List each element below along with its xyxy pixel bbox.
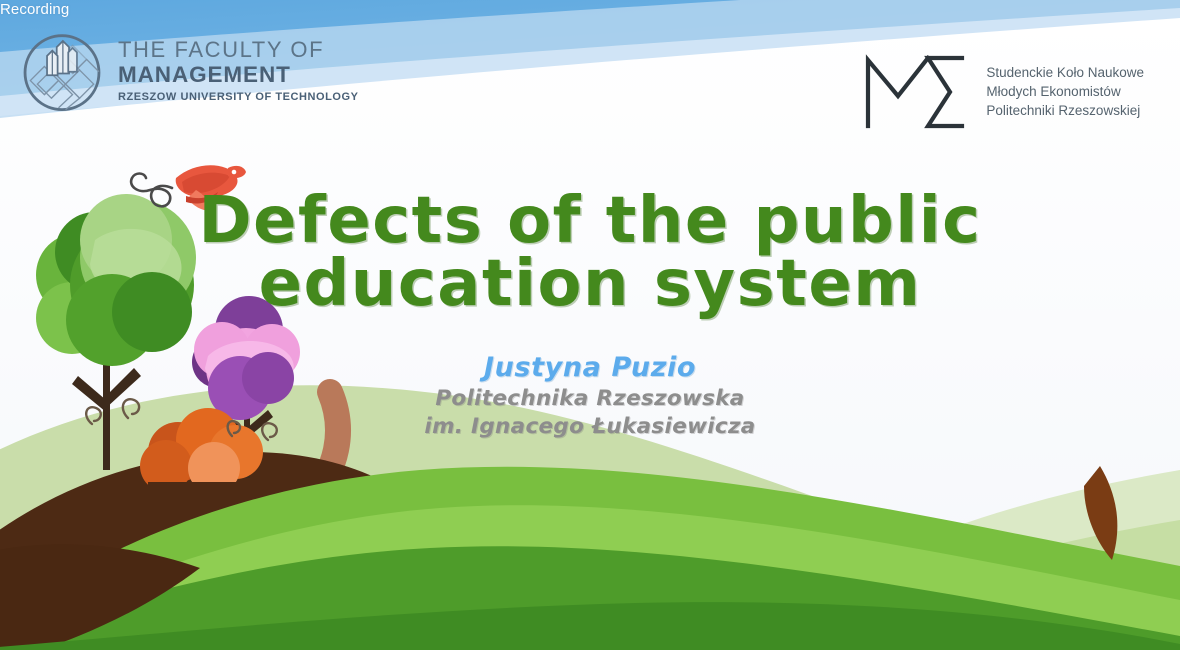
- faculty-logo: THE FACULTY OF MANAGEMENT RZESZOW UNIVER…: [18, 26, 358, 114]
- faculty-line-1: THE FACULTY OF: [118, 37, 358, 63]
- me-monogram-icon: [862, 52, 970, 130]
- faculty-line-3: RZESZOW UNIVERSITY OF TECHNOLOGY: [118, 89, 358, 106]
- student-club-logo: Studenckie Koło Naukowe Młodych Ekonomis…: [862, 52, 1144, 130]
- faculty-wordmark: THE FACULTY OF MANAGEMENT RZESZOW UNIVER…: [118, 35, 358, 106]
- faculty-line-2: MANAGEMENT: [118, 62, 358, 89]
- club-line-1: Studenckie Koło Naukowe: [986, 63, 1144, 82]
- presentation-slide: Recording: [0, 0, 1180, 650]
- club-line-2: Młodych Ekonomistów: [986, 82, 1144, 101]
- rzeszow-university-emblem-icon: [18, 26, 106, 114]
- club-line-3: Politechniki Rzeszowskiej: [986, 101, 1144, 120]
- recording-indicator-label: Recording: [0, 2, 69, 19]
- club-wordmark: Studenckie Koło Naukowe Młodych Ekonomis…: [986, 62, 1144, 120]
